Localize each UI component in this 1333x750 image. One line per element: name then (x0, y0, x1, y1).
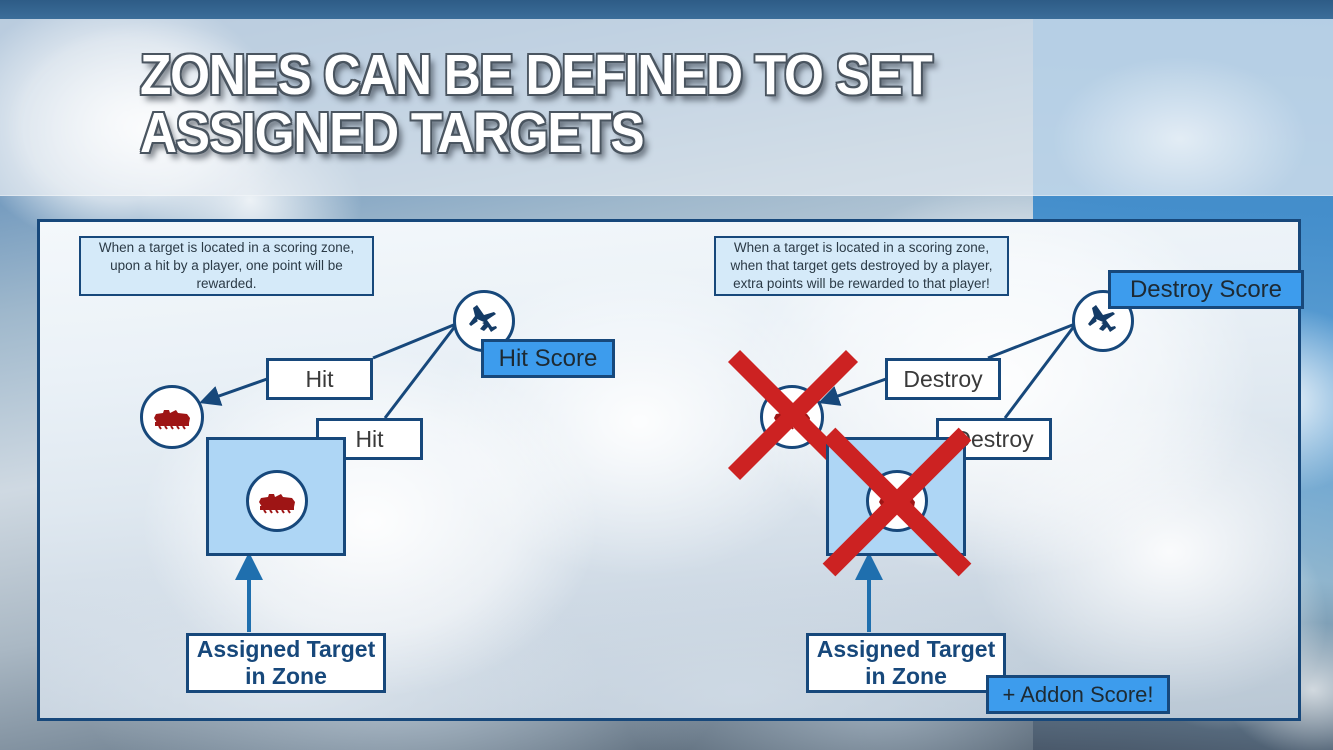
right-caption-box: When a target is located in a scoring zo… (714, 236, 1009, 296)
right-target-circle-outside[interactable] (760, 385, 824, 449)
hit-label-outside-text: Hit (305, 366, 333, 393)
destroy-score-label: Destroy Score (1130, 276, 1282, 304)
armored-target-icon (151, 402, 193, 432)
slide-root: ZONES CAN BE DEFINED TO SET ASSIGNED TAR… (0, 0, 1333, 750)
left-target-circle-outside[interactable] (140, 385, 204, 449)
top-accent-strip (0, 0, 1333, 19)
armored-target-icon (256, 486, 298, 516)
hit-score-badge[interactable]: Hit Score (481, 339, 615, 378)
left-caption-text: When a target is located in a scoring zo… (90, 239, 363, 293)
fighter-jet-icon (464, 301, 504, 341)
destroy-score-badge[interactable]: Destroy Score (1108, 270, 1304, 309)
left-assigned-target-text: Assigned Target in Zone (197, 636, 376, 689)
content-frame: When a target is located in a scoring zo… (37, 219, 1301, 721)
title-banner-clouds (0, 19, 1333, 196)
armored-target-icon (876, 486, 918, 516)
right-assigned-target-label[interactable]: Assigned Target in Zone (806, 633, 1006, 693)
hit-label-outside[interactable]: Hit (266, 358, 373, 400)
destroy-label-outside[interactable]: Destroy (885, 358, 1001, 400)
left-target-circle-in-zone[interactable] (246, 470, 308, 532)
left-assigned-target-label[interactable]: Assigned Target in Zone (186, 633, 386, 693)
armored-target-icon (771, 402, 813, 432)
addon-score-badge[interactable]: + Addon Score! (986, 675, 1170, 714)
destroy-label-outside-text: Destroy (903, 366, 982, 393)
right-caption-text: When a target is located in a scoring zo… (725, 239, 998, 293)
left-caption-box: When a target is located in a scoring zo… (79, 236, 374, 296)
hit-label-zone-text: Hit (355, 426, 383, 453)
addon-score-label: + Addon Score! (1002, 682, 1153, 708)
hit-score-label: Hit Score (499, 345, 598, 373)
right-assigned-target-text: Assigned Target in Zone (817, 636, 996, 689)
right-target-circle-in-zone[interactable] (866, 470, 928, 532)
destroy-label-zone-text: Destroy (954, 426, 1033, 453)
